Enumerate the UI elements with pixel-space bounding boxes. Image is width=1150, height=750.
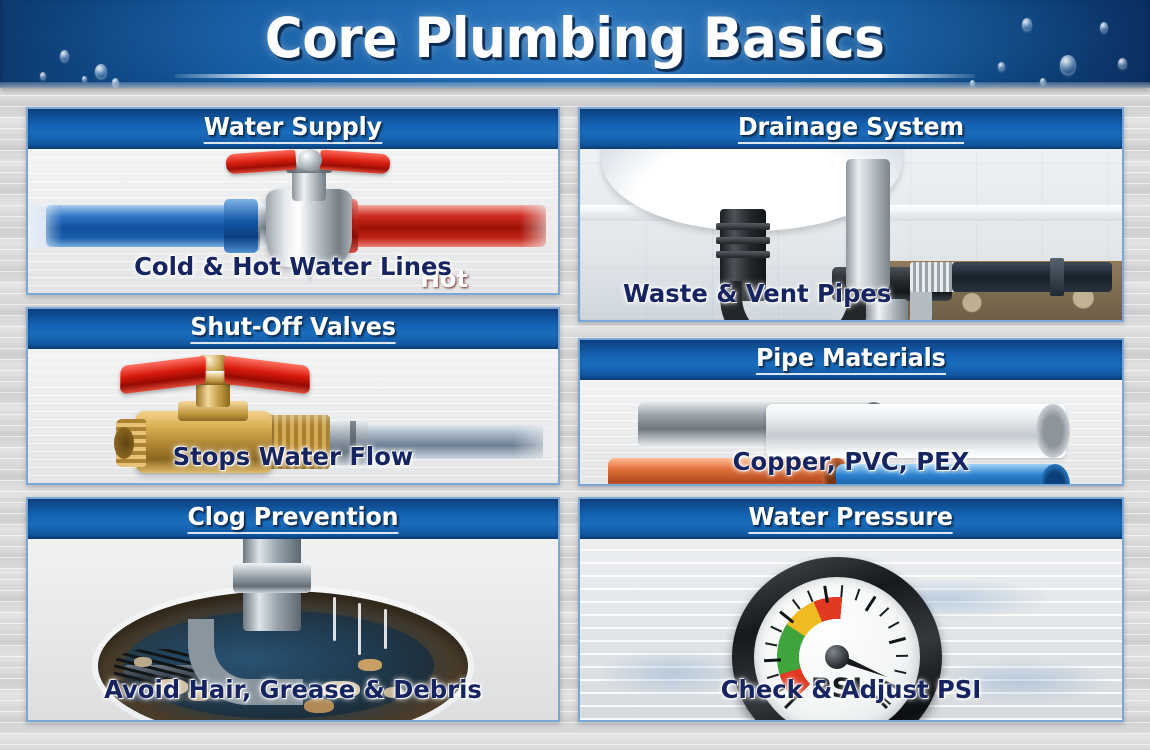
cold-water-pipe (46, 205, 242, 247)
water-droplet-icon (112, 78, 119, 87)
panel-title: Water Pressure (749, 504, 953, 533)
panel-clog-prevention[interactable]: Clog Prevention A (26, 497, 560, 722)
panel-caption: Avoid Hair, Grease & Debris (36, 675, 550, 704)
panel-header-drainage-system: Drainage System (580, 109, 1122, 149)
valve-lever-right (224, 356, 310, 395)
panel-pipe-materials[interactable]: Pipe Materials Copper, PVC, PEX (578, 338, 1124, 486)
hot-water-pipe: Hot (336, 205, 546, 247)
panel-caption: Copper, PVC, PEX (588, 447, 1114, 476)
panel-title: Shut-Off Valves (190, 314, 395, 343)
panel-drainage-system[interactable]: Drainage System W (578, 107, 1124, 322)
panel-header-shut-off-valves: Shut-Off Valves (28, 309, 558, 349)
panel-title: Pipe Materials (756, 345, 946, 374)
panel-body-water-supply: Hot Cold & Hot Water Lines (28, 149, 558, 293)
valve-cap (298, 149, 322, 171)
poster-header: Core Plumbing Basics (0, 0, 1150, 88)
water-splash (384, 609, 387, 649)
water-droplet-icon (82, 76, 87, 82)
water-splash (333, 597, 336, 641)
panel-caption: Waste & Vent Pipes (588, 279, 1114, 308)
panel-title: Water Supply (204, 114, 382, 143)
panel-header-clog-prevention: Clog Prevention (28, 499, 558, 539)
cold-pipe-collar (224, 199, 258, 253)
panel-water-supply[interactable]: Water Supply Hot Cold & H (26, 107, 560, 295)
pipe-thread-band (716, 237, 770, 244)
panel-header-water-pressure: Water Pressure (580, 499, 1122, 539)
panel-caption: Cold & Hot Water Lines (36, 252, 550, 281)
gauge-needle-hub (825, 645, 849, 669)
panel-body-pipe-materials: Copper, PVC, PEX (580, 380, 1122, 484)
pipe-thread-band (716, 223, 770, 230)
panel-caption: Stops Water Flow (36, 442, 550, 471)
water-droplet-icon (40, 72, 46, 80)
vent-stack-pipe (846, 159, 890, 289)
panel-header-water-supply: Water Supply (28, 109, 558, 149)
water-splash (358, 603, 361, 655)
valve-lever-left (120, 356, 206, 395)
panel-body-clog-prevention: Avoid Hair, Grease & Debris (28, 539, 558, 720)
panel-body-shut-off-valves: Stops Water Flow (28, 349, 558, 483)
panel-title: Drainage System (738, 114, 964, 143)
panel-water-pressure[interactable]: Water Pressure (578, 497, 1124, 722)
panel-shut-off-valves[interactable]: Shut-Off Valves Stops Water Flow (26, 307, 560, 485)
panel-header-pipe-materials: Pipe Materials (580, 340, 1122, 380)
panel-body-drainage-system: Waste & Vent Pipes (580, 149, 1122, 320)
water-droplet-icon (970, 80, 975, 86)
panel-title: Clog Prevention (188, 504, 399, 533)
pipe-thread-band (716, 251, 770, 258)
panel-caption: Check & Adjust PSI (588, 675, 1114, 704)
debris-particle (358, 659, 382, 671)
debris-particle (134, 657, 152, 667)
page-title: Core Plumbing Basics (265, 6, 885, 70)
pipe-coupler (233, 563, 311, 593)
title-underline (175, 74, 975, 78)
infographic-poster: Core Plumbing Basics Water Supply Hot (0, 0, 1150, 750)
water-droplet-icon (1040, 78, 1046, 85)
panel-body-water-pressure: PSI Check & Adjust PSI (580, 539, 1122, 720)
